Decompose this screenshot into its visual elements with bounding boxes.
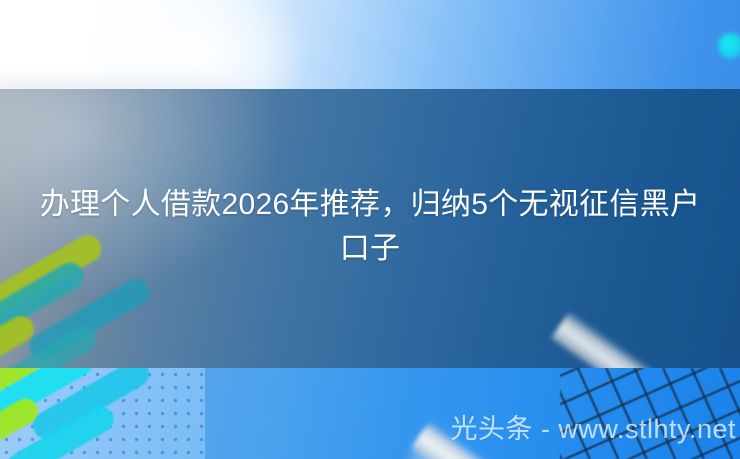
- watermark: 光头条 - www.stlhty.net: [0, 412, 736, 446]
- cyan-dot-icon: [718, 33, 740, 59]
- page-title: 办理个人借款2026年推荐，归纳5个无视征信黑户口子: [30, 183, 710, 271]
- top-gradient-band: [0, 0, 740, 89]
- poster-image: 办理个人借款2026年推荐，归纳5个无视征信黑户口子 光头条 - www.stl…: [0, 0, 740, 459]
